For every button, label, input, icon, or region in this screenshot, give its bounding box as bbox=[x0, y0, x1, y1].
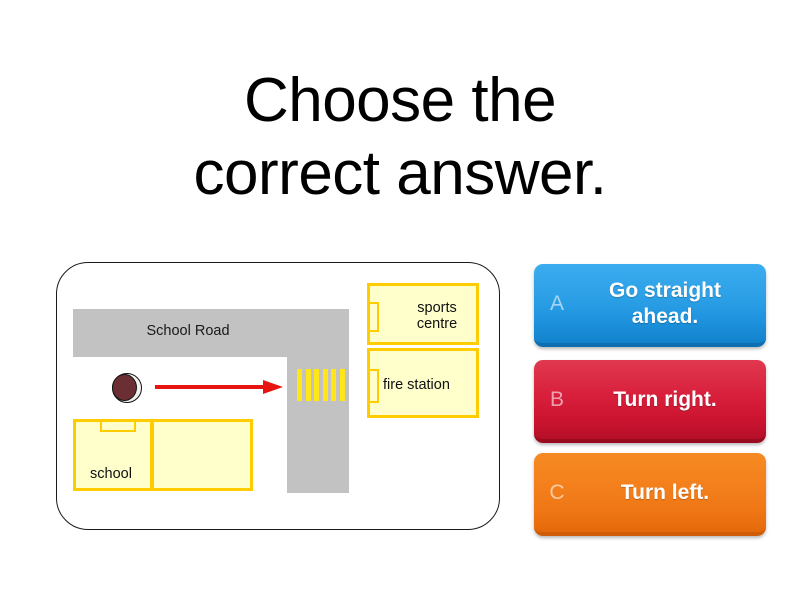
answer-text-b: Turn right. bbox=[580, 387, 766, 413]
title-line-2: correct answer. bbox=[0, 137, 800, 210]
building-label-fire-station: fire station bbox=[383, 377, 450, 393]
person-head bbox=[112, 374, 137, 401]
building-sports-centre: sports centre bbox=[367, 283, 479, 345]
road-vertical bbox=[287, 309, 349, 493]
arrow-right-icon bbox=[155, 380, 283, 394]
building-school-annex bbox=[151, 419, 253, 491]
crosswalk-stripe bbox=[331, 369, 336, 401]
road-label-school-road: School Road bbox=[103, 323, 273, 339]
building-label-line-1: sports bbox=[417, 300, 457, 316]
door-icon bbox=[368, 302, 379, 332]
crosswalk-stripe bbox=[323, 369, 328, 401]
map-stage: School Road sports centre fire bbox=[57, 263, 500, 530]
answer-option-c[interactable]: C Turn left. bbox=[534, 453, 766, 536]
person-position-icon bbox=[112, 373, 142, 403]
crosswalk-stripe bbox=[314, 369, 319, 401]
answer-option-b[interactable]: B Turn right. bbox=[534, 360, 766, 443]
door-icon bbox=[100, 420, 136, 432]
door-icon bbox=[368, 369, 379, 403]
answer-letter-a: A bbox=[534, 292, 580, 316]
title-line-1: Choose the bbox=[0, 64, 800, 137]
building-label-school: school bbox=[90, 466, 132, 482]
crosswalk-stripe bbox=[340, 369, 345, 401]
crosswalk-icon bbox=[297, 369, 345, 401]
crosswalk-stripe bbox=[306, 369, 311, 401]
page-title: Choose the correct answer. bbox=[0, 64, 800, 210]
building-label-line-2: centre bbox=[417, 316, 457, 332]
arrow-head bbox=[263, 380, 283, 394]
building-school: school bbox=[73, 419, 153, 491]
answer-option-a[interactable]: A Go straight ahead. bbox=[534, 264, 766, 347]
arrow-shaft bbox=[155, 385, 263, 389]
crosswalk-stripe bbox=[297, 369, 302, 401]
map-image-card: School Road sports centre fire bbox=[56, 262, 500, 530]
building-fire-station: fire station bbox=[367, 348, 479, 418]
answer-text-a: Go straight ahead. bbox=[580, 278, 766, 329]
answer-letter-c: C bbox=[534, 481, 580, 505]
building-label-sports-centre: sports centre bbox=[400, 300, 474, 332]
answer-letter-b: B bbox=[534, 388, 580, 412]
answer-text-c: Turn left. bbox=[580, 480, 766, 506]
